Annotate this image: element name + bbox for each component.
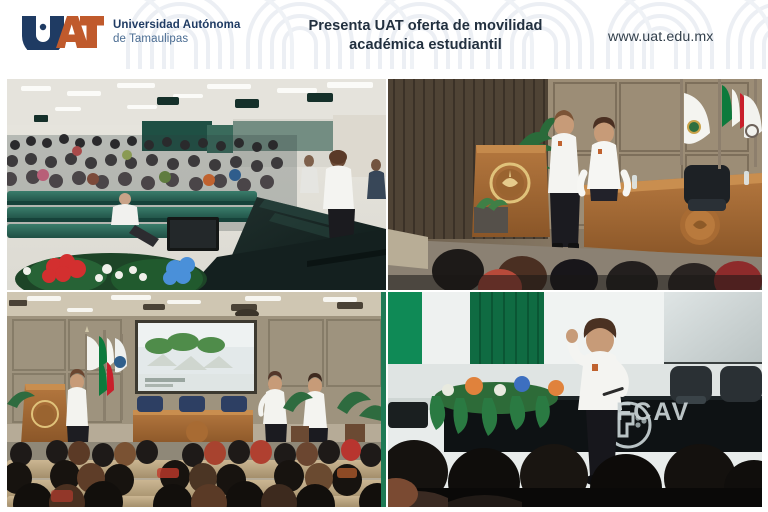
projection-screen: [135, 320, 257, 394]
headline: Presenta UAT oferta de movilidad académi…: [283, 17, 568, 56]
uat-logo[interactable]: Universidad Autónoma de Tamaulipas: [20, 14, 240, 50]
uat-wordmark-icon: [20, 14, 104, 50]
photo-collage: FCAV: [7, 79, 762, 507]
photo-presentation-screen: [7, 292, 386, 507]
website-url[interactable]: www.uat.edu.mx: [608, 29, 714, 45]
photo-fcav-speaker: FCAV: [388, 292, 762, 507]
university-name: Universidad Autónoma de Tamaulipas: [113, 18, 240, 46]
projection-screen: [664, 292, 762, 368]
photo-auditorium-audience: [7, 79, 386, 290]
fcav-table-label: FCAV: [616, 398, 690, 427]
head-table: [133, 410, 253, 446]
page-header: Universidad Autónoma de Tamaulipas Prese…: [0, 0, 768, 73]
university-name-line2: de Tamaulipas: [113, 33, 240, 47]
photo-podium-speakers: [388, 79, 762, 290]
university-name-line1: Universidad Autónoma: [113, 19, 240, 33]
